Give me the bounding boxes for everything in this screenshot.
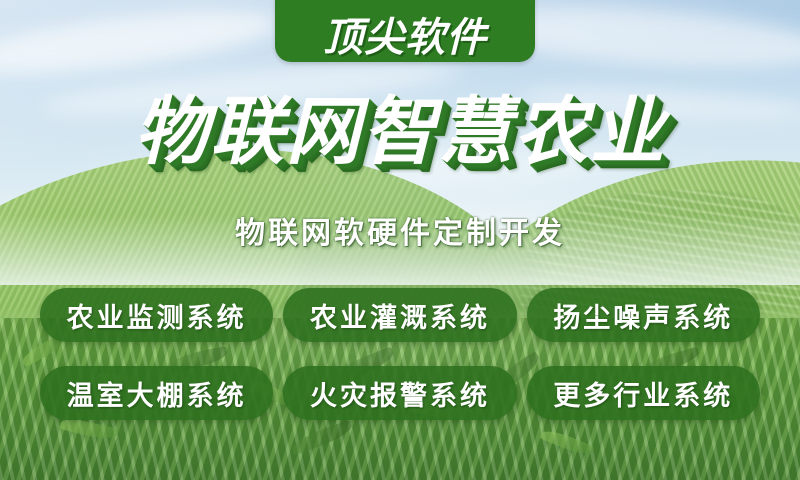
service-pill-label: 农业灌溉系统	[310, 296, 490, 335]
service-pill-grid: 农业监测系统 农业灌溉系统 扬尘噪声系统 温室大棚系统 火灾报警系统 更多行业系…	[40, 288, 760, 420]
page-title: 物联网智慧农业	[0, 92, 800, 172]
service-pill-more-industries[interactable]: 更多行业系统	[527, 366, 760, 420]
service-pill-greenhouse[interactable]: 温室大棚系统	[40, 366, 273, 420]
service-pill-label: 更多行业系统	[553, 374, 733, 413]
service-pill-dust-noise[interactable]: 扬尘噪声系统	[527, 288, 760, 342]
brand-badge[interactable]: 顶尖软件	[275, 0, 535, 62]
service-pill-label: 火灾报警系统	[310, 374, 490, 413]
page-subtitle: 物联网软硬件定制开发	[0, 208, 800, 252]
service-pill-agriculture-monitoring[interactable]: 农业监测系统	[40, 288, 273, 342]
banner-content: 顶尖软件 物联网智慧农业 物联网软硬件定制开发 农业监测系统 农业灌溉系统 扬尘…	[0, 0, 800, 480]
service-pill-agriculture-irrigation[interactable]: 农业灌溉系统	[283, 288, 516, 342]
service-pill-label: 扬尘噪声系统	[553, 296, 733, 335]
service-pill-fire-alarm[interactable]: 火灾报警系统	[283, 366, 516, 420]
promo-banner: 顶尖软件 物联网智慧农业 物联网软硬件定制开发 农业监测系统 农业灌溉系统 扬尘…	[0, 0, 800, 480]
service-pill-label: 农业监测系统	[67, 296, 247, 335]
brand-name: 顶尖软件	[323, 18, 487, 58]
service-pill-label: 温室大棚系统	[67, 374, 247, 413]
